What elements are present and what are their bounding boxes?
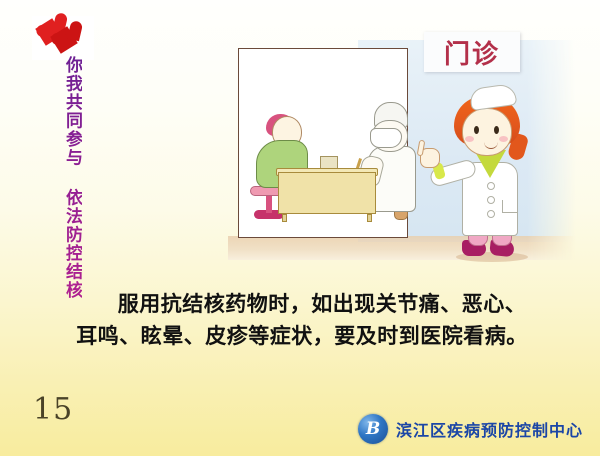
two-hearts-icon (32, 16, 94, 60)
outpatient-sign-plaque: 门诊 (424, 32, 520, 72)
slogan-vertical-text: 你我共同参与 依法防控结核 (26, 56, 82, 300)
nurse-eye-right (494, 126, 499, 134)
cdc-logo-icon: B (358, 414, 388, 444)
nurse-cheek-right (499, 136, 508, 142)
illustration-fade-wrapper: 门诊 (228, 30, 576, 270)
message-line-2: 耳鸣、眩晕、皮疹等症状，要及时到医院看病。 (56, 320, 548, 352)
consultation-desk (278, 172, 376, 214)
nurse-coat-button-3 (487, 210, 495, 218)
desk-leg-left (282, 214, 287, 222)
poster-page: 你我共同参与 依法防控结核 (0, 0, 600, 456)
nurse-head (462, 108, 512, 156)
health-advice-message: 服用抗结核药物时，如出现关节痛、恶心、 耳鸣、眩晕、皮疹等症状，要及时到医院看病… (56, 288, 548, 352)
cdc-organization-name: 滨江区疾病预防控制中心 (396, 417, 583, 441)
desk-leg-right (367, 214, 372, 222)
nurse-coat-button-1 (487, 182, 495, 190)
patient-stool-leg (266, 195, 272, 213)
nurse-coat-button-2 (487, 196, 495, 204)
slogan-block: 你我共同参与 依法防控结核 (26, 16, 82, 266)
pointing-nurse-figure (434, 86, 544, 248)
nurse-cheek-left (465, 136, 474, 142)
doctor-face-mask-icon (370, 128, 402, 148)
cdc-logo-letter: B (358, 414, 388, 444)
footer-organization: B 滨江区疾病预防控制中心 (358, 414, 583, 444)
message-line-1: 服用抗结核药物时，如出现关节痛、恶心、 (56, 288, 548, 320)
outpatient-sign-text: 门诊 (444, 34, 500, 71)
nurse-eye-left (474, 126, 479, 134)
clinic-illustration: 门诊 (228, 30, 576, 270)
nurse-coat-pocket (502, 200, 518, 213)
page-number: 15 (33, 392, 73, 427)
